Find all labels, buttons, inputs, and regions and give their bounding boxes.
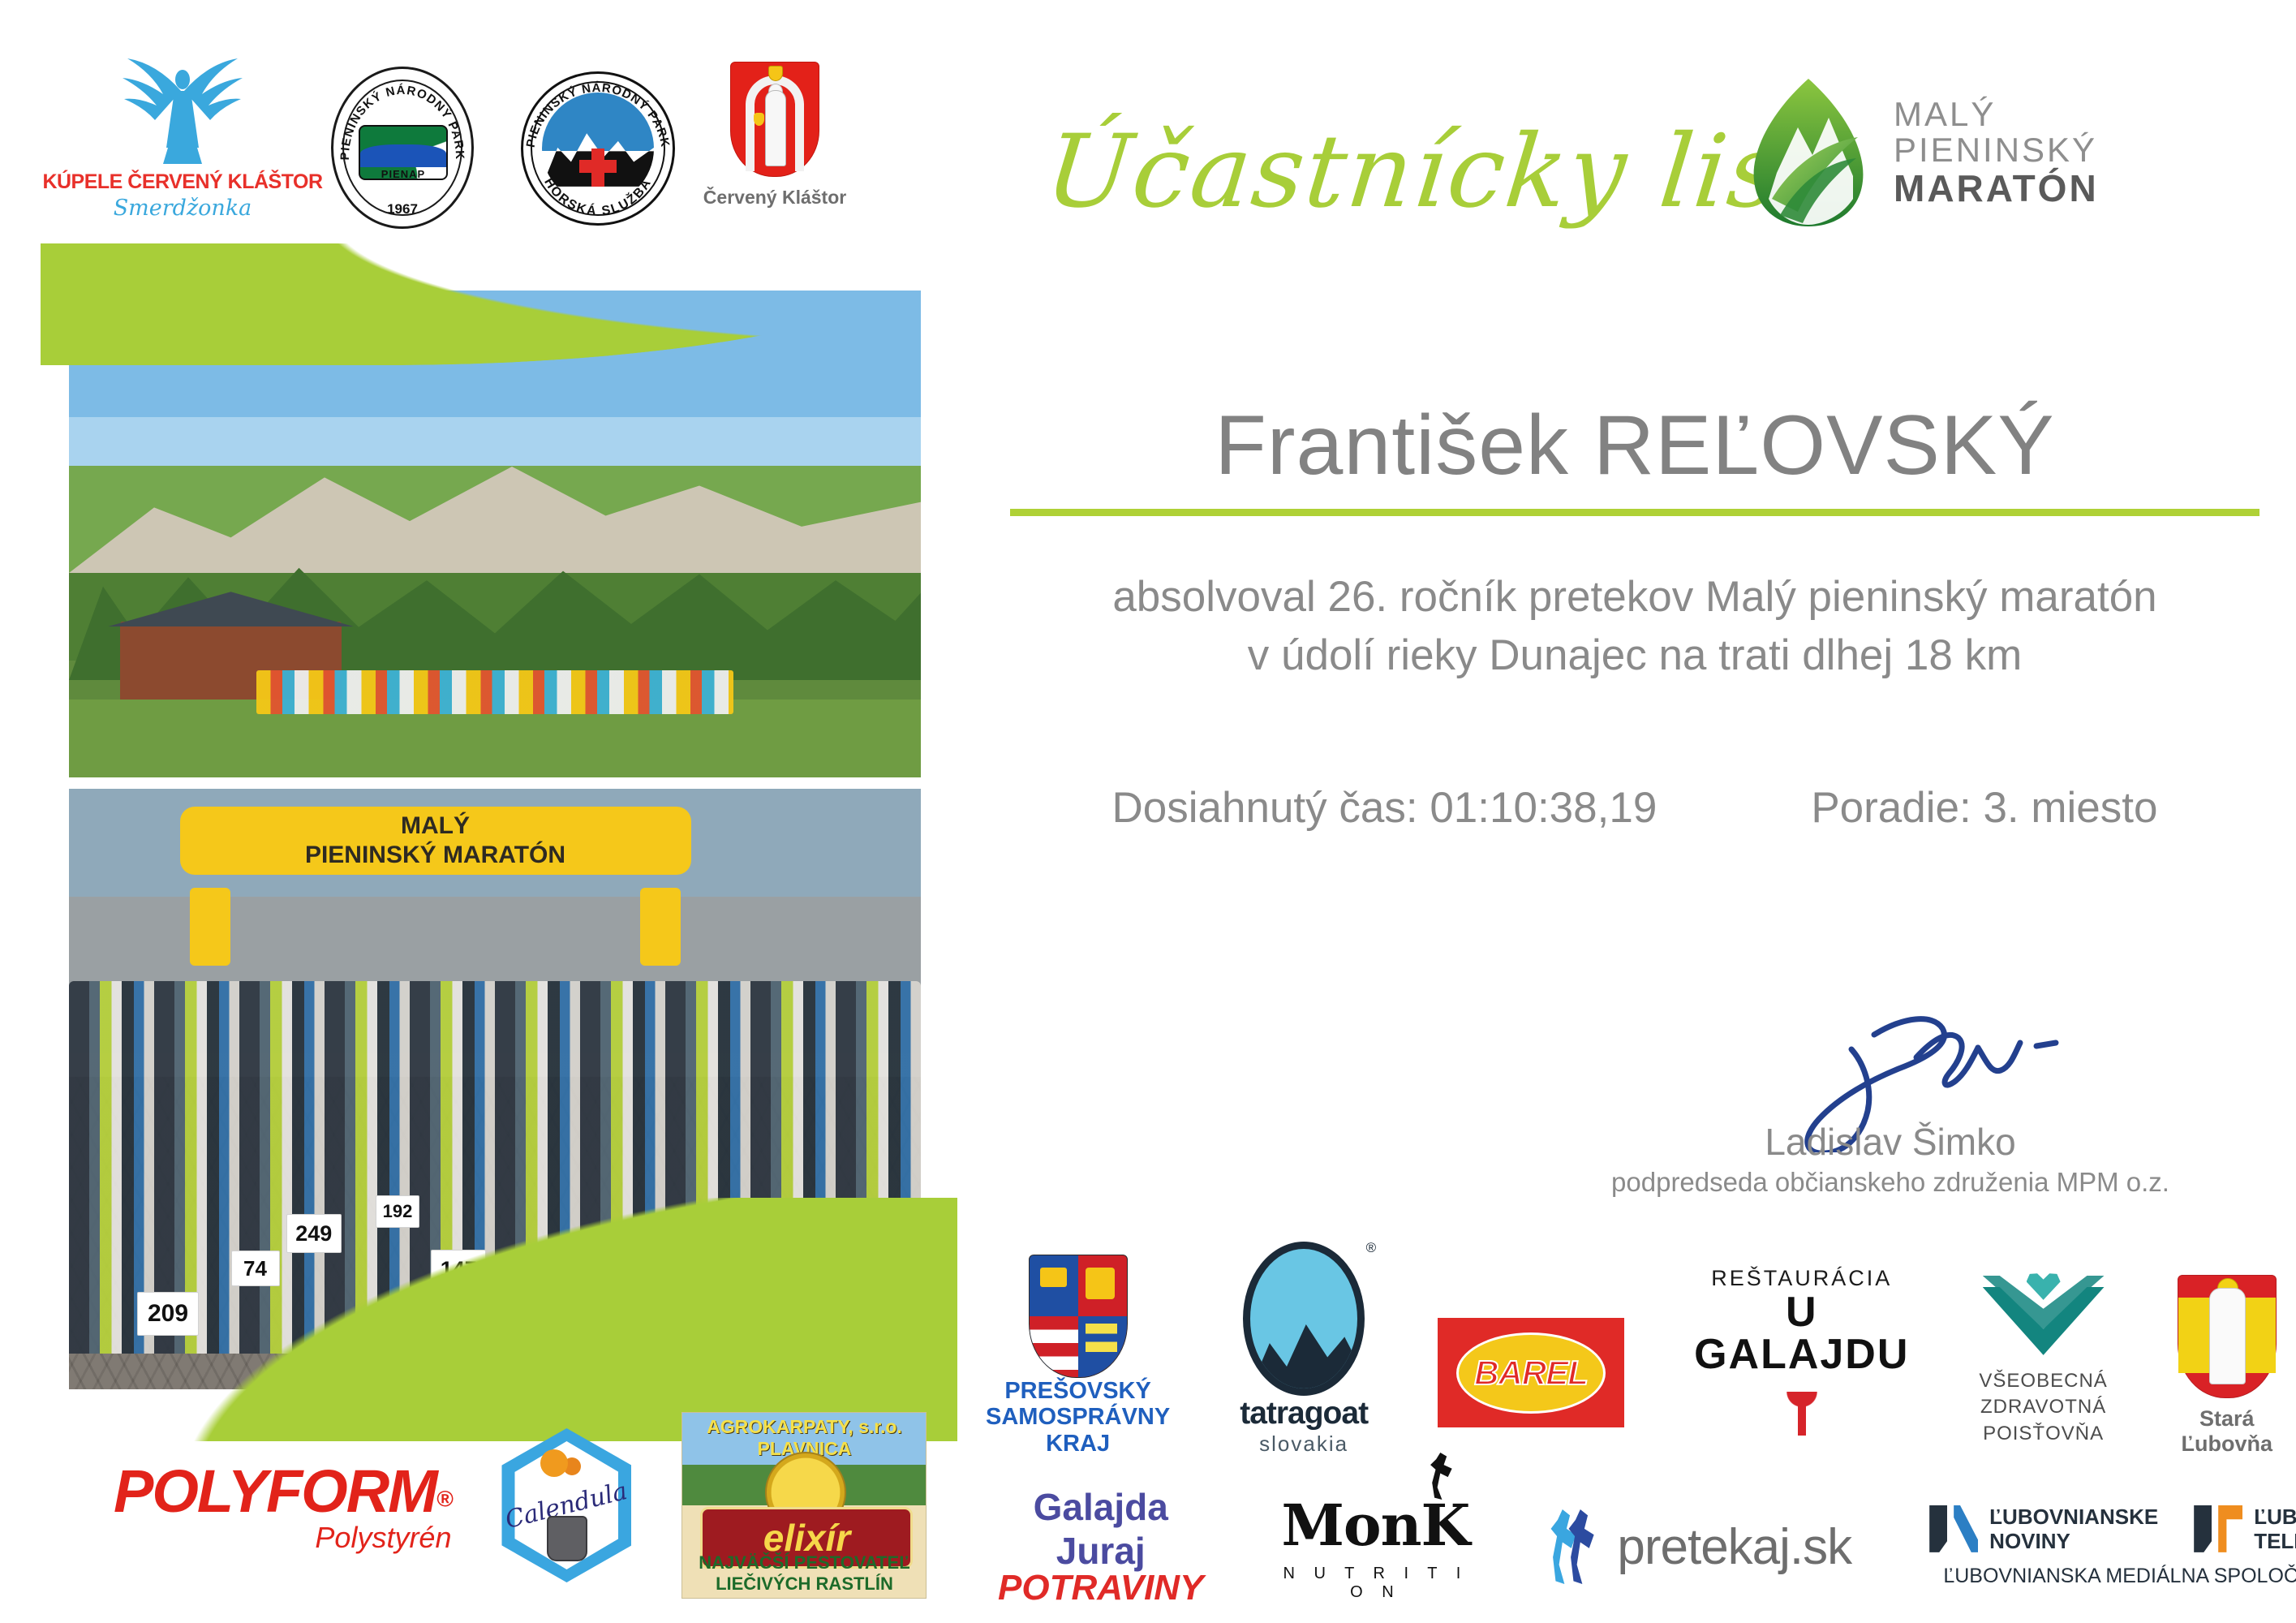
sponsor-u-galajdu: REŠTAURÁCIA U GALAJDU [1694, 1266, 1909, 1442]
lt-line1: ĽUBOVNIANSKA [2254, 1505, 2296, 1530]
polyform-registered: ® [436, 1486, 452, 1511]
polyform-subtitle: Polystyrén [114, 1521, 451, 1555]
placement-value: 3. miesto [1983, 784, 2157, 832]
sponsor-lubovnianska-medialna: ĽUBOVNIANSKE NOVINY ĽUBOVNIANSKA TELEVÍZ… [1929, 1505, 2296, 1588]
partner-logo-strip: KÚPELE ČERVENÝ KLÁŠTOR Smerdžonka PIENIN… [81, 49, 941, 235]
results-row: Dosiahnutý čas: 01:10:38,19 Poradie: 3. … [1014, 783, 2255, 833]
sponsor-monk-nutrition: MonK N U T R I T I O N [1281, 1492, 1469, 1602]
ln-logo-icon [1929, 1505, 1980, 1552]
photo-panel: MALÝ PIENINSKÝ MARATÓN 209 74 249 147 19… [49, 243, 941, 1436]
psk-line1: PREŠOVSKÝ [986, 1378, 1170, 1404]
stara-lubovna-coat-of-arms [2178, 1275, 2277, 1398]
description-line-2: v údolí rieky Dunajec na trati dlhej 18 … [1014, 626, 2255, 685]
svg-text:HORSKÁ SLUŽBA: HORSKÁ SLUŽBA [541, 176, 655, 219]
sponsor-presovsky-samospravny-kraj: PREŠOVSKÝ SAMOSPRÁVNY KRAJ [986, 1255, 1170, 1457]
sponsor-tatragoat: ® tatragoat slovakia [1240, 1242, 1368, 1457]
vzp-chevron-icon [1983, 1272, 2105, 1368]
sponsor-barel: BAREL [1438, 1318, 1624, 1427]
runners-icon [1547, 1509, 1606, 1584]
green-curve-bottom [41, 1198, 957, 1441]
kck-title: KÚPELE ČERVENÝ KLÁŠTOR [42, 170, 322, 194]
placement-label: Poradie: [1811, 784, 1971, 832]
certificate-page: KÚPELE ČERVENÝ KLÁŠTOR Smerdžonka PIENIN… [0, 0, 2296, 1623]
lubovnianske-noviny: ĽUBOVNIANSKE NOVINY [1929, 1505, 2158, 1553]
pienap-year: 1967 [331, 201, 474, 217]
description-line-1: absolvoval 26. ročník pretekov Malý pien… [1014, 568, 2255, 626]
lubovnianska-footer: ĽUBOVNIANSKA MEDIÁLNA SPOLOČNOSŤ, s.r.o. [1943, 1565, 2296, 1588]
sponsor-stara-lubovna: Stará Ľubovňa [2178, 1275, 2277, 1457]
finish-time-label: Dosiahnutý čas: [1112, 784, 1418, 832]
pretekaj-title: pretekaj.sk [1617, 1518, 1851, 1576]
logo-pieninsky-narodny-park: PIENINSKÝ NÁRODNÝ PARK PIENAP 1967 [331, 67, 474, 229]
finish-time-value: 01:10:38,19 [1430, 784, 1657, 832]
tatragoat-title: tatragoat [1240, 1396, 1368, 1431]
cerveny-klastor-coat-of-arms [730, 62, 819, 177]
inflatable-arch: MALÝ PIENINSKÝ MARATÓN [180, 807, 691, 969]
galajda-line1: Galajda Juraj [998, 1485, 1203, 1573]
event-logo-line2: PIENINSKÝ [1894, 132, 2099, 169]
hs-arc-text: PIENINSKÝ NÁRODNÝ PARK HORSKÁ SLUŽBA [521, 71, 675, 226]
logo-horska-sluzba: PIENINSKÝ NÁRODNÝ PARK HORSKÁ SLUŽBA [521, 71, 675, 226]
psk-coat-of-arms [1029, 1255, 1128, 1378]
elixir-bottom-line2: LIEČIVÝCH RASTLÍN [682, 1573, 926, 1595]
ln-line1: ĽUBOVNIANSKE [1989, 1505, 2158, 1530]
event-logo-line3: MARATÓN [1894, 169, 2099, 209]
galajda-line2: POTRAVINY [998, 1568, 1203, 1608]
tatragoat-registered: ® [1366, 1240, 1377, 1256]
finish-time: Dosiahnutý čas: 01:10:38,19 [1112, 783, 1658, 833]
water-wings-icon [85, 49, 280, 170]
stara-lubovna-caption: Stará Ľubovňa [2178, 1406, 2277, 1457]
sponsor-pretekaj-sk: pretekaj.sk [1547, 1509, 1851, 1584]
participant-name: František REĽOVSKÝ [1014, 398, 2255, 494]
psk-line3: KRAJ [986, 1431, 1170, 1457]
logo-kupele-cerveny-klastor: KÚPELE ČERVENÝ KLÁŠTOR Smerdžonka [81, 49, 284, 221]
tatragoat-subtitle: slovakia [1259, 1431, 1348, 1457]
certificate-description: absolvoval 26. ročník pretekov Malý pien… [1014, 568, 2255, 685]
lt-logo-icon [2194, 1505, 2244, 1552]
lt-line2: TELEVÍZIA [2254, 1530, 2296, 1554]
pienap-inner-label: PIENAP [359, 168, 448, 180]
event-logo-line1: MALÝ [1894, 97, 2099, 133]
sponsor-row-2: Galajda Juraj POTRAVINY MonK N U T R I T… [998, 1485, 2280, 1608]
sponsor-calendula: Calendula [501, 1428, 631, 1582]
cerveny-klastor-caption: Červený Kláštor [703, 187, 846, 209]
page-title: Účastnícky list [1040, 114, 1829, 230]
monk-subtitle: N U T R I T I O N [1281, 1565, 1469, 1602]
tatragoat-icon: ® [1243, 1242, 1365, 1396]
ln-line2: NOVINY [1989, 1530, 2158, 1554]
lubovnianska-televizia: ĽUBOVNIANSKA TELEVÍZIA [2194, 1505, 2296, 1553]
monk-title: MonK [1281, 1492, 1469, 1559]
sponsor-agrokarpaty-elixir: AGROKARPATY, s.r.o. PLAVNICA elixír NAJV… [681, 1412, 927, 1599]
svg-text:PIENINSKÝ NÁRODNÝ PARK: PIENINSKÝ NÁRODNÝ PARK [524, 81, 673, 149]
kck-subtitle: Smerdžonka [114, 196, 252, 221]
sponsor-polyform: POLYFORM® Polystyrén [114, 1457, 451, 1555]
signature-block: Ladislav Šimko podpredseda občianskeho z… [1631, 1010, 2150, 1213]
sponsor-vseobecna-zdravotna-poistovna: VŠEOBECNÁ ZDRAVOTNÁ POISŤOVŇA [1979, 1272, 2107, 1447]
sponsor-row-bottom-left: POLYFORM® Polystyrén Calendula AGROKARPA… [114, 1412, 949, 1599]
signatory-name: Ladislav Šimko [1631, 1120, 2150, 1164]
arch-line1: MALÝ [180, 811, 691, 840]
mortar-pestle-icon [547, 1516, 587, 1561]
vzp-line1: VŠEOBECNÁ [1979, 1368, 2107, 1394]
placement: Poradie: 3. miesto [1811, 783, 2157, 833]
green-divider [1010, 509, 2259, 516]
logo-cerveny-klastor: Červený Kláštor [722, 62, 828, 209]
psk-line2: SAMOSPRÁVNY [986, 1404, 1170, 1430]
vzp-line3: POISŤOVŇA [1979, 1421, 2107, 1447]
sponsor-row-1: PREŠOVSKÝ SAMOSPRÁVNY KRAJ ® tatragoat s… [986, 1242, 2276, 1457]
polyform-title: POLYFORM [114, 1457, 436, 1525]
leaf-mountain-icon [1744, 77, 1872, 227]
signatory-role: podpredseda občianskeho združenia MPM o.… [1582, 1167, 2199, 1198]
barel-title: BAREL [1474, 1354, 1588, 1393]
u-galajdu-line1: REŠTAURÁCIA [1711, 1266, 1892, 1291]
bell-icon [754, 113, 764, 126]
elixir-bottom-line1: NAJVÄČŠÍ PESTOVATEĽ [682, 1552, 926, 1573]
arch-line2: PIENINSKÝ MARATÓN [180, 841, 691, 869]
event-logo: MALÝ PIENINSKÝ MARATÓN [1744, 77, 2231, 227]
u-galajdu-line2: U GALAJDU [1694, 1291, 1909, 1375]
sponsor-galajda-juraj: Galajda Juraj POTRAVINY [998, 1485, 1203, 1608]
vzp-line2: ZDRAVOTNÁ [1979, 1394, 2107, 1420]
